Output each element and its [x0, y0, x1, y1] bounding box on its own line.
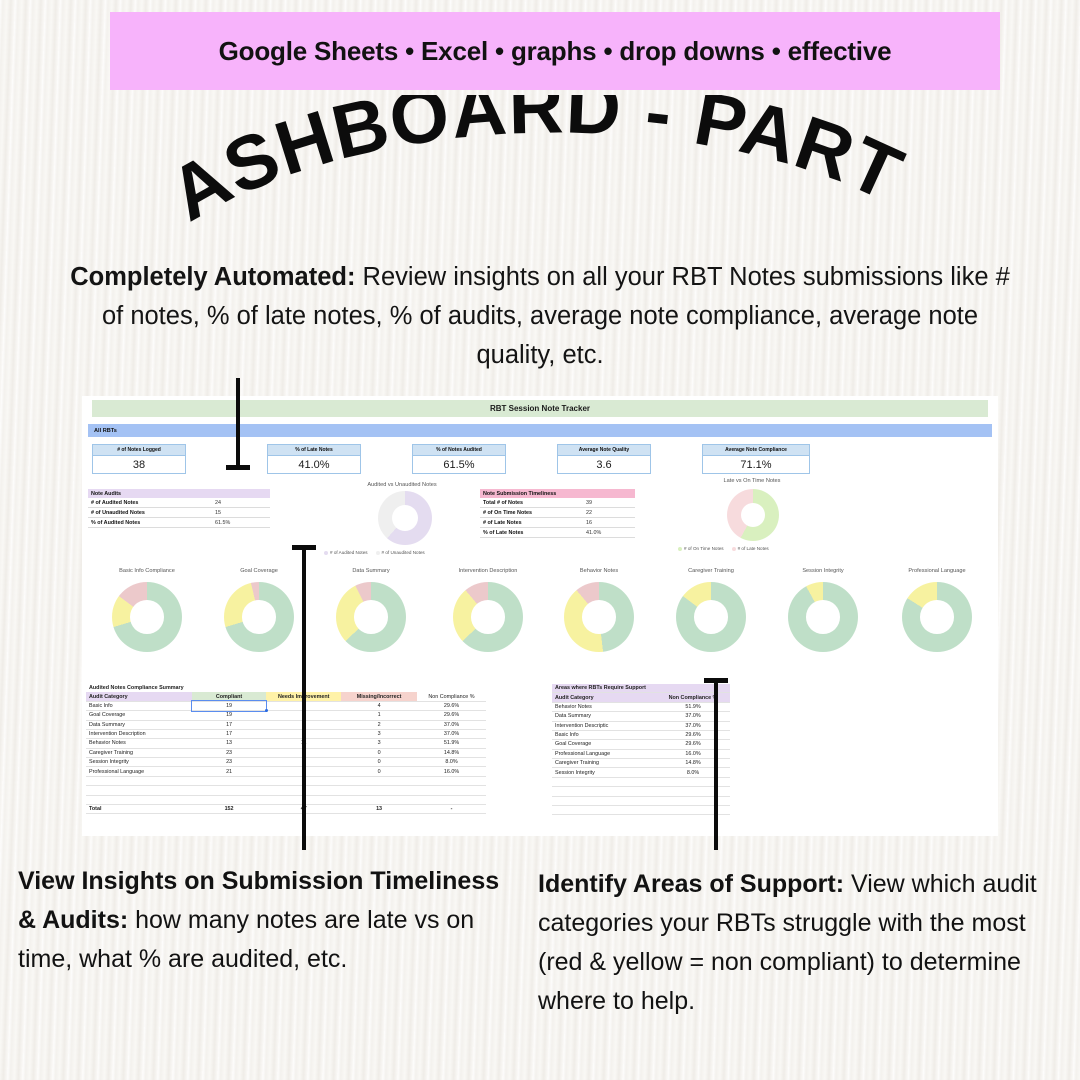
kpi-label: % of Late Notes — [267, 444, 361, 456]
chart-title-basic-info: Basic Info Compliance — [92, 568, 202, 574]
legend-audited-vs-unaudited: # of Audited Notes # of Unaudited Notes — [324, 550, 425, 555]
cell-pct: 29.6% — [656, 730, 730, 739]
legend-swatch-icon — [376, 551, 380, 555]
table-total-row: Total 152 47 13 - — [86, 804, 486, 813]
cell-category: Behavior Notes — [552, 702, 656, 711]
row-value: 24 — [215, 500, 267, 506]
table-row-empty — [86, 795, 486, 804]
chart-title-session-integrity: Session Integrity — [768, 568, 878, 574]
pointer-foot — [226, 465, 250, 470]
table-row-empty — [552, 777, 730, 786]
sheet-title: RBT Session Note Tracker — [490, 404, 590, 413]
pointer-cap — [704, 678, 728, 683]
summary-section-title: Audited Notes Compliance Summary — [86, 684, 266, 692]
donut-goal-coverage — [224, 582, 294, 652]
cell-category: Intervention Descriptic — [552, 721, 656, 730]
caption-support: Identify Areas of Support: View which au… — [538, 865, 1058, 1021]
col-header-missing-incorrect: Missing/Incorrect — [341, 692, 417, 701]
chart-title-late-vs-ontime: Late vs On Time Notes — [672, 478, 832, 484]
table-row-empty — [552, 787, 730, 796]
cell-pct: 16.0% — [656, 749, 730, 758]
timeliness-header: Note Submission Timeliness — [480, 489, 635, 498]
intro-paragraph: Completely Automated: Review insights on… — [70, 258, 1010, 375]
chart-title-data-summary: Data Summary — [316, 568, 426, 574]
kpi-value: 41.0% — [267, 456, 361, 474]
cell-category: Caregiver Training — [86, 748, 192, 757]
col-header-non-compliance: Non Compliance % — [417, 692, 486, 701]
table-row-empty — [86, 776, 486, 785]
donut-late-vs-ontime — [727, 489, 779, 541]
row-label: % of Late Notes — [483, 530, 586, 536]
kpi-label: Average Note Quality — [557, 444, 651, 456]
cell-category: Basic Info — [552, 730, 656, 739]
donut-audited-vs-unaudited — [378, 491, 432, 545]
table-row: Goal Coverage 19 7 1 29.6% — [86, 711, 486, 720]
legend-item: # of Late Notes — [732, 546, 769, 551]
table-row: Behavior Notes 13 11 3 51.9% — [86, 739, 486, 748]
table-row: % of Late Notes 41.0% — [480, 528, 635, 538]
row-label: # of Unaudited Notes — [91, 510, 215, 516]
kpi-label: % of Notes Audited — [412, 444, 506, 456]
legend-label: # of Audited Notes — [330, 550, 368, 555]
page-title-text: DASHBOARD - PART 1 — [0, 95, 939, 235]
kpi-notes-audited: % of Notes Audited 61.5% — [412, 444, 506, 474]
table-row: Basic Info 29.6% — [552, 730, 730, 739]
cell-total-label: Total — [86, 804, 192, 813]
cell-pct: 16.0% — [417, 767, 486, 776]
kpi-value: 3.6 — [557, 456, 651, 474]
cell-missing: 1 — [341, 711, 417, 720]
cell-total-missing: 13 — [341, 804, 417, 813]
table-section-header: Areas where RBTs Require Support — [552, 684, 730, 693]
donut-session-integrity — [788, 582, 858, 652]
spreadsheet-screenshot: RBT Session Note Tracker All RBTs # of N… — [82, 396, 998, 836]
kpi-late-notes: % of Late Notes 41.0% — [267, 444, 361, 474]
row-label: % of Audited Notes — [91, 520, 215, 526]
row-label: # of Late Notes — [483, 520, 586, 526]
timeliness-table: Note Submission Timeliness Total # of No… — [480, 489, 635, 538]
cell-pct: 29.6% — [417, 701, 486, 710]
cell-category: Session Integrity — [552, 768, 656, 777]
cell-missing: 2 — [341, 720, 417, 729]
legend-item: # of Audited Notes — [324, 550, 368, 555]
pointer-line-kpis — [236, 378, 240, 470]
legend-item: # of Unaudited Notes — [376, 550, 425, 555]
page-title: DASHBOARD - PART 1 — [0, 95, 1080, 235]
table-row: Data Summary 17 8 2 37.0% — [86, 720, 486, 729]
cell-pct: 37.0% — [417, 720, 486, 729]
chart-title-audited-vs-unaudited: Audited vs Unaudited Notes — [322, 482, 482, 488]
col-header-non-compliance: Non Compliance % — [656, 693, 730, 702]
legend-swatch-icon — [678, 547, 682, 551]
cell-pct: 14.8% — [656, 759, 730, 768]
top-banner: Google Sheets • Excel • graphs • drop do… — [110, 12, 1000, 90]
table-row-empty — [552, 796, 730, 805]
cell-pct: 29.6% — [656, 740, 730, 749]
table-row: Data Summary 37.0% — [552, 712, 730, 721]
chart-title-caregiver-training: Caregiver Training — [656, 568, 766, 574]
legend-swatch-icon — [324, 551, 328, 555]
cell-compliant: 13 — [192, 739, 266, 748]
donut-data-summary — [336, 582, 406, 652]
cell-pct: 29.6% — [417, 711, 486, 720]
kpi-value: 38 — [92, 456, 186, 474]
row-label: # of Audited Notes — [91, 500, 215, 506]
table-section-header: Audited Notes Compliance Summary — [86, 684, 486, 692]
table-row: Intervention Descriptic 37.0% — [552, 721, 730, 730]
cell-category: Behavior Notes — [86, 739, 192, 748]
cell-compliant: 17 — [192, 729, 266, 738]
table-row: # of Unaudited Notes 15 — [88, 508, 270, 518]
pointer-line-support — [714, 678, 718, 850]
cell-missing: 0 — [341, 758, 417, 767]
table-row: Professional Language 21 4 0 16.0% — [86, 767, 486, 776]
cell-compliant: 19 — [192, 711, 266, 720]
caption-right-lead: Identify Areas of Support: — [538, 870, 844, 898]
table-row-empty — [552, 805, 730, 814]
note-audits-table: Note Audits # of Audited Notes 24 # of U… — [88, 489, 270, 528]
cell-pct: 8.0% — [417, 758, 486, 767]
cell-compliant[interactable]: 19 — [192, 701, 266, 710]
legend-item: # of On Time Notes — [678, 546, 724, 551]
table-row-empty — [86, 786, 486, 795]
cell-missing: 0 — [341, 748, 417, 757]
col-header-category: Audit Category — [552, 693, 656, 702]
chart-title-goal-coverage: Goal Coverage — [204, 568, 314, 574]
cell-category: Professional Language — [552, 749, 656, 758]
col-header-compliant: Compliant — [192, 692, 266, 701]
cell-missing: 4 — [341, 701, 417, 710]
table-row: Session Integrity 23 2 0 8.0% — [86, 758, 486, 767]
chart-title-intervention-description: Intervention Description — [428, 568, 548, 574]
note-audits-header: Note Audits — [88, 489, 270, 498]
row-value: 22 — [586, 510, 632, 516]
sheet-title-bar: RBT Session Note Tracker — [92, 400, 988, 417]
caption-timeliness: View Insights on Submission Timeliness &… — [18, 862, 508, 979]
legend-swatch-icon — [732, 547, 736, 551]
table-row: Intervention Description 17 7 3 37.0% — [86, 729, 486, 738]
table-row: Basic Info 19 4 4 29.6% — [86, 701, 486, 710]
cell-category: Professional Language — [86, 767, 192, 776]
cell-compliant: 21 — [192, 767, 266, 776]
cell-missing: 3 — [341, 739, 417, 748]
table-row: Total # of Notes 39 — [480, 498, 635, 508]
donut-basic-info — [112, 582, 182, 652]
cell-category: Intervention Description — [86, 729, 192, 738]
cell-pct: 51.9% — [656, 702, 730, 711]
rbt-filter-label: All RBTs — [94, 428, 117, 434]
kpi-note-compliance: Average Note Compliance 71.1% — [702, 444, 810, 474]
table-row: Behavior Notes 51.9% — [552, 702, 730, 711]
cell-category: Goal Coverage — [86, 711, 192, 720]
chart-title-professional-language: Professional Language — [880, 568, 994, 574]
kpi-value: 71.1% — [702, 456, 810, 474]
support-section-title: Areas where RBTs Require Support — [552, 684, 730, 693]
row-value: 41.0% — [586, 530, 632, 536]
table-row: Professional Language 16.0% — [552, 749, 730, 758]
table-row: Caregiver Training 23 4 0 14.8% — [86, 748, 486, 757]
table-header-row: Audit Category Non Compliance % — [552, 693, 730, 702]
legend-late-vs-ontime: # of On Time Notes # of Late Notes — [678, 546, 769, 551]
donut-intervention-description — [453, 582, 523, 652]
cell-compliant: 23 — [192, 748, 266, 757]
cell-category: Data Summary — [552, 712, 656, 721]
pointer-cap — [292, 545, 316, 550]
cell-category: Caregiver Training — [552, 759, 656, 768]
table-row: # of Audited Notes 24 — [88, 498, 270, 508]
cell-compliant: 17 — [192, 720, 266, 729]
table-row: Session Integrity 8.0% — [552, 768, 730, 777]
cell-pct: 37.0% — [417, 729, 486, 738]
cell-pct: 37.0% — [656, 721, 730, 730]
table-row: % of Audited Notes 61.5% — [88, 518, 270, 528]
support-areas-table: Areas where RBTs Require Support Audit C… — [552, 684, 730, 815]
donut-professional-language — [902, 582, 972, 652]
table-row: Goal Coverage 29.6% — [552, 740, 730, 749]
cell-category: Goal Coverage — [552, 740, 656, 749]
cell-pct: 37.0% — [656, 712, 730, 721]
donut-behavior-notes — [564, 582, 634, 652]
row-value: 16 — [586, 520, 632, 526]
cell-compliant: 23 — [192, 758, 266, 767]
chart-title-behavior-notes: Behavior Notes — [544, 568, 654, 574]
cell-pct: 8.0% — [656, 768, 730, 777]
table-row: Caregiver Training 14.8% — [552, 759, 730, 768]
kpi-label: # of Notes Logged — [92, 444, 186, 456]
table-row: # of On Time Notes 22 — [480, 508, 635, 518]
compliance-summary-table: Audited Notes Compliance Summary Audit C… — [86, 684, 486, 814]
row-value: 39 — [586, 500, 632, 506]
rbt-filter-bar[interactable]: All RBTs — [88, 424, 992, 437]
kpi-note-quality: Average Note Quality 3.6 — [557, 444, 651, 474]
legend-label: # of On Time Notes — [684, 546, 724, 551]
cell-total-compliant: 152 — [192, 804, 266, 813]
legend-label: # of Unaudited Notes — [382, 550, 425, 555]
kpi-value: 61.5% — [412, 456, 506, 474]
col-header-category: Audit Category — [86, 692, 192, 701]
kpi-label: Average Note Compliance — [702, 444, 810, 456]
cell-pct: 51.9% — [417, 739, 486, 748]
kpi-notes-logged: # of Notes Logged 38 — [92, 444, 186, 474]
row-label: Total # of Notes — [483, 500, 586, 506]
row-label: # of On Time Notes — [483, 510, 586, 516]
donut-caregiver-training — [676, 582, 746, 652]
banner-text: Google Sheets • Excel • graphs • drop do… — [219, 36, 892, 67]
row-value: 61.5% — [215, 520, 267, 526]
cell-total-pct: - — [417, 804, 486, 813]
cell-missing: 0 — [341, 767, 417, 776]
pointer-line-timeliness — [302, 545, 306, 850]
cell-category: Data Summary — [86, 720, 192, 729]
row-value: 15 — [215, 510, 267, 516]
intro-lead: Completely Automated: — [70, 263, 355, 291]
cell-pct: 14.8% — [417, 748, 486, 757]
table-row: # of Late Notes 16 — [480, 518, 635, 528]
cell-missing: 3 — [341, 729, 417, 738]
cell-category: Basic Info — [86, 701, 192, 710]
legend-label: # of Late Notes — [738, 546, 769, 551]
cell-category: Session Integrity — [86, 758, 192, 767]
table-header-row: Audit Category Compliant Needs Improveme… — [86, 692, 486, 701]
